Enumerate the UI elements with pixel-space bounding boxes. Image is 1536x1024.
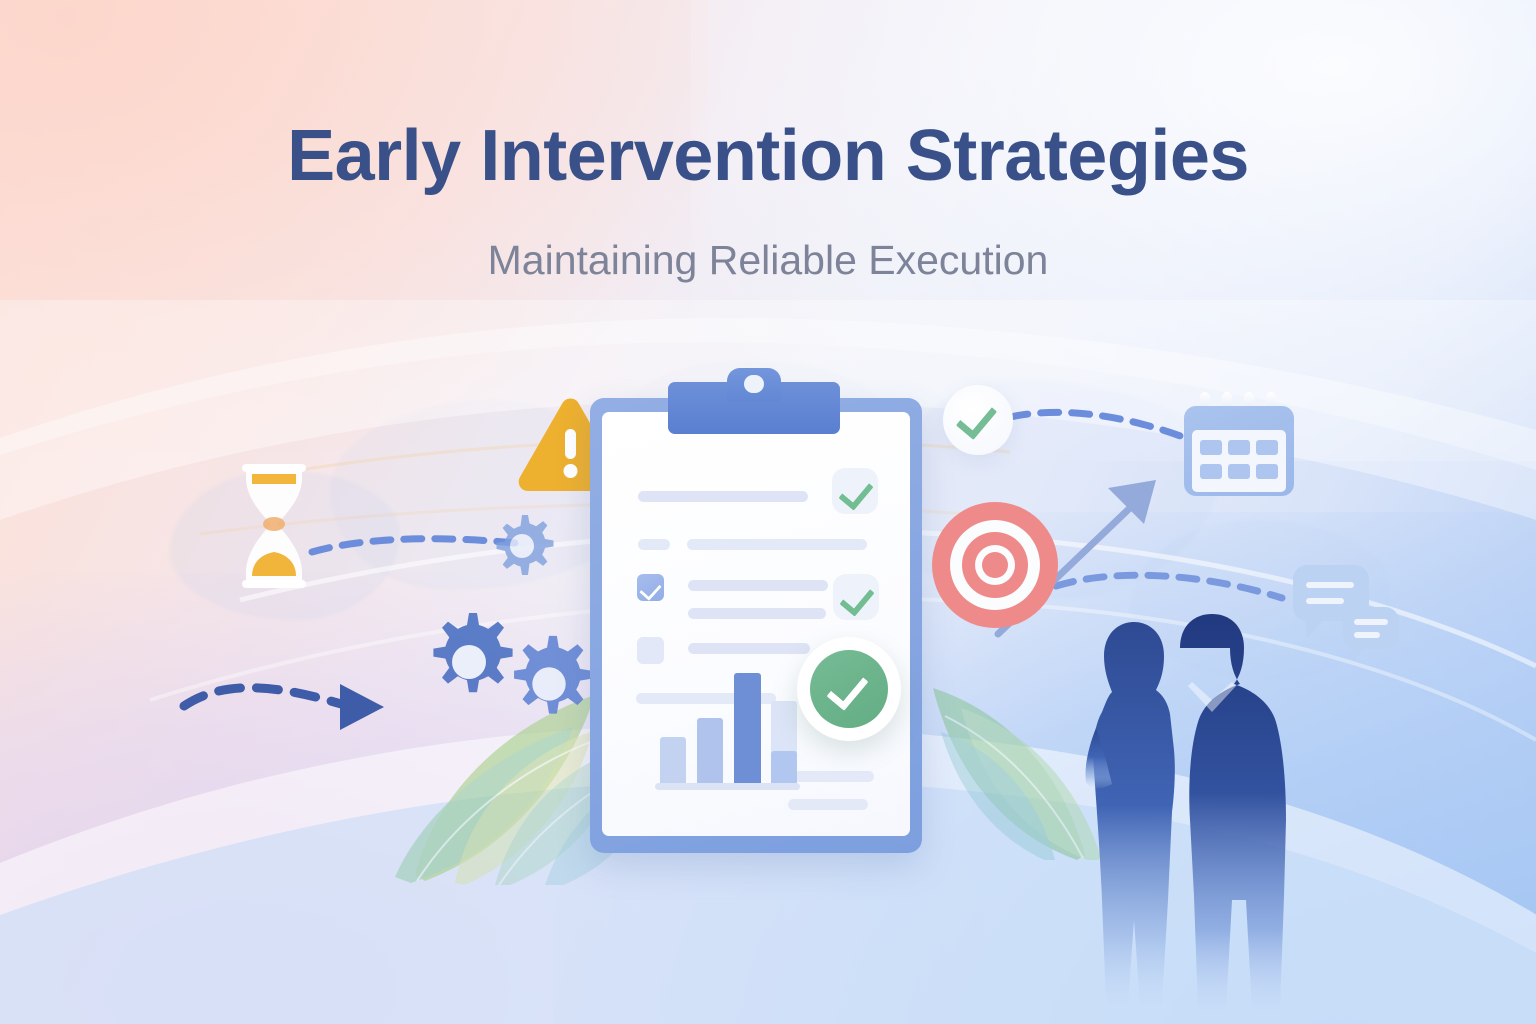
gear-icon-medium [495, 628, 603, 736]
checklist-checkbox-checked[interactable] [637, 574, 664, 601]
chat-bubble-line [1306, 582, 1354, 588]
gear-icon-small [483, 506, 559, 582]
calendar-cell [1228, 440, 1250, 455]
paper-text-line [688, 608, 826, 619]
chart-bar-highlight [734, 673, 761, 783]
paper-text-line [688, 643, 810, 654]
chart-baseline [655, 783, 800, 790]
paper-text-line [788, 799, 868, 810]
calendar-cell [1256, 464, 1278, 479]
target-icon [932, 502, 1058, 628]
silhouette-man [1180, 614, 1286, 1010]
calendar-icon [1184, 392, 1294, 496]
bar-chart [655, 672, 800, 790]
people-silhouette [1060, 600, 1360, 1020]
hourglass-icon [236, 462, 312, 590]
green-check-tile [832, 468, 878, 514]
paper-text-line [688, 580, 828, 591]
target-bullseye [982, 552, 1008, 578]
success-check [810, 650, 888, 728]
silhouette-woman [1085, 622, 1174, 1004]
paper-text-line [638, 491, 808, 502]
calendar-body [1184, 406, 1294, 496]
success-badge-icon [797, 637, 901, 741]
calendar-cell [1256, 440, 1278, 455]
calendar-cell [1200, 440, 1222, 455]
check-circle-icon [943, 385, 1013, 455]
checklist-checkbox-empty[interactable] [637, 637, 664, 664]
calendar-sheet [1192, 430, 1286, 492]
green-check-tile [833, 574, 879, 620]
calendar-cell [1200, 464, 1222, 479]
paper-text-line [638, 539, 670, 550]
illustration [0, 0, 1536, 1024]
chart-bar-fill [771, 751, 797, 783]
paper-text-line [788, 771, 874, 782]
dashed-arrow-left [178, 668, 418, 748]
chart-bar [697, 718, 723, 783]
hero-banner: Early Intervention Strategies Maintainin… [0, 0, 1536, 1024]
chart-bar [660, 737, 686, 783]
calendar-cell [1228, 464, 1250, 479]
paper-text-line [687, 539, 867, 550]
clipboard-clip-hole [744, 375, 764, 393]
